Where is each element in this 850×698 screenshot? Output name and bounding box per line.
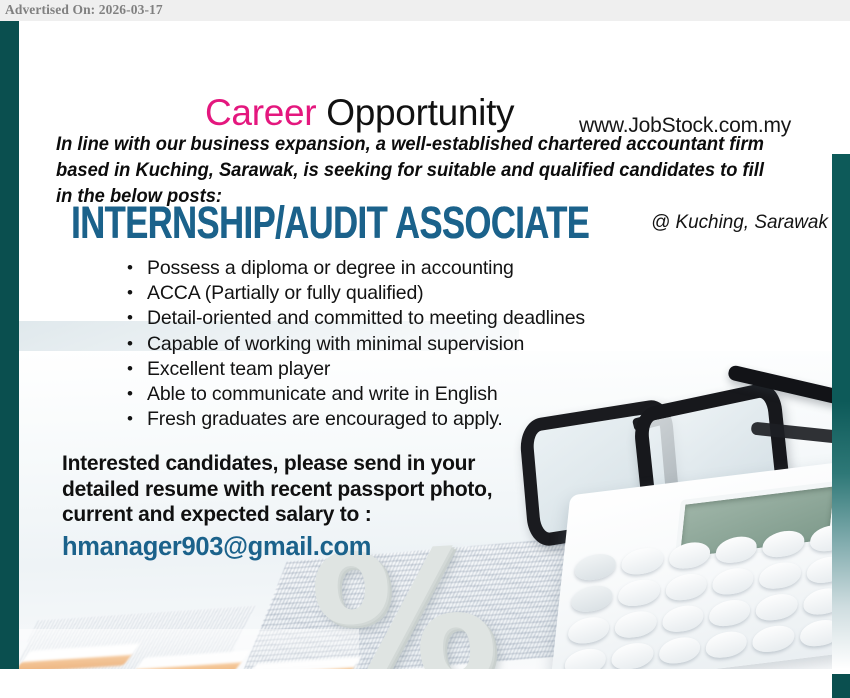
job-position-title: INTERNSHIP/AUDIT ASSOCIATE bbox=[71, 198, 589, 249]
document-card bbox=[128, 651, 250, 669]
right-accent-bar bbox=[832, 154, 850, 669]
job-advertisement-page: Advertised On: 2026-03-17 % bbox=[0, 0, 850, 698]
requirement-item: ACCA (Partially or fully qualified) bbox=[119, 281, 585, 306]
document-cards-graphic bbox=[19, 629, 349, 669]
left-accent-bar bbox=[0, 21, 19, 669]
flyer-canvas: % bbox=[0, 21, 850, 698]
eyeglasses-right-lens bbox=[632, 379, 792, 534]
requirement-item: Possess a diploma or degree in accountin… bbox=[119, 256, 585, 281]
advertised-on-label: Advertised On: 2026-03-17 bbox=[5, 2, 163, 18]
application-line: detailed resume with recent passport pho… bbox=[62, 477, 582, 503]
requirement-item: Excellent team player bbox=[119, 357, 585, 382]
requirements-list: Possess a diploma or degree in accountin… bbox=[119, 256, 585, 432]
document-card bbox=[240, 657, 362, 669]
advertised-on-bar: Advertised On: 2026-03-17 bbox=[0, 0, 850, 21]
page-title-accent: Career bbox=[205, 92, 316, 133]
document-card bbox=[19, 643, 140, 669]
calculator-icon bbox=[559, 479, 850, 669]
page-title-rest: Opportunity bbox=[316, 92, 514, 133]
contact-email-link[interactable]: hmanager903@gmail.com bbox=[62, 533, 371, 562]
calculator-keypad bbox=[559, 518, 850, 669]
calculator-screen bbox=[674, 481, 839, 564]
newspaper-texture-secondary bbox=[19, 606, 256, 669]
flyer-sheet: % bbox=[19, 21, 850, 669]
bottom-right-accent-bar bbox=[832, 674, 850, 698]
photo-highlight-overlay bbox=[19, 629, 359, 669]
calculator-body bbox=[550, 459, 850, 669]
job-location-label: @ Kuching, Sarawak bbox=[651, 211, 828, 234]
application-line: Interested candidates, please send in yo… bbox=[62, 451, 582, 477]
requirement-item: Fresh graduates are encouraged to apply. bbox=[119, 407, 585, 432]
requirement-item: Detail-oriented and committed to meeting… bbox=[119, 306, 585, 331]
application-instructions: Interested candidates, please send in yo… bbox=[62, 451, 582, 528]
requirement-item: Able to communicate and write in English bbox=[119, 382, 585, 407]
page-title: Career Opportunity bbox=[205, 92, 514, 134]
eyeglasses-bridge bbox=[632, 411, 666, 431]
requirement-item: Capable of working with minimal supervis… bbox=[119, 332, 585, 357]
application-line: current and expected salary to : bbox=[62, 502, 582, 528]
